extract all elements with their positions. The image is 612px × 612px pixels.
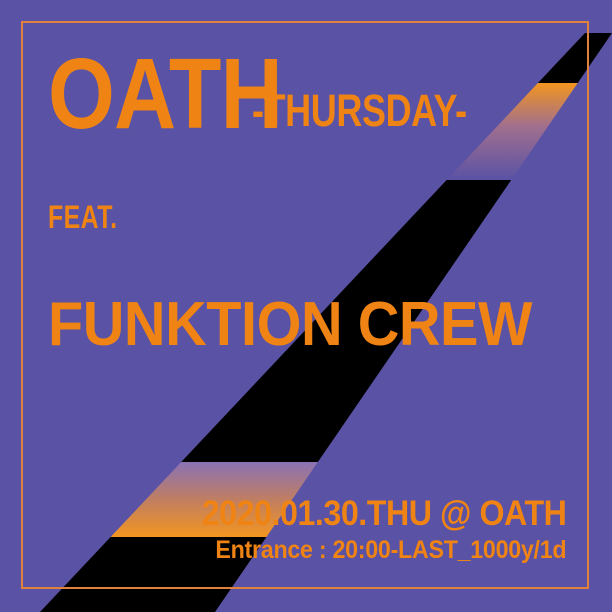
entrance-info: Entrance : 20:00-LAST_1000y/1d	[215, 538, 566, 563]
event-date-venue: 2020.01.30.THU @ OATH	[201, 496, 566, 531]
artist-name: FUNKTION CREW	[48, 294, 532, 356]
featuring-label: FEAT.	[48, 201, 117, 233]
poster-subtitle: -THURSDAY-	[252, 88, 467, 133]
poster-title: OATH	[48, 44, 282, 144]
flyer-canvas: OATH -THURSDAY- FEAT. FUNKTION CREW 2020…	[0, 0, 612, 612]
